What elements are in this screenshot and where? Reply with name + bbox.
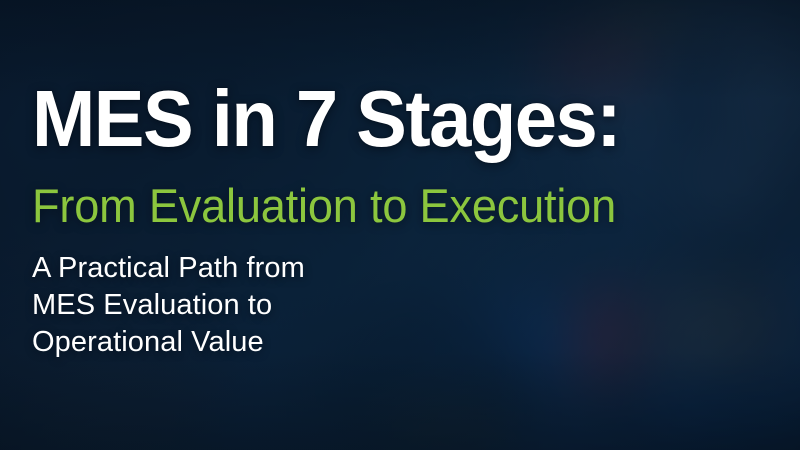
deck-line-1: A Practical Path from [32, 250, 305, 287]
slide-headline: MES in 7 Stages: [32, 79, 620, 159]
title-text-block: MES in 7 Stages: From Evaluation to Exec… [32, 0, 772, 450]
deck-line-3: Operational Value [32, 324, 305, 361]
title-slide: MES in 7 Stages: From Evaluation to Exec… [0, 0, 800, 450]
deck-line-2: MES Evaluation to [32, 287, 305, 324]
slide-deck-text: A Practical Path from MES Evaluation to … [32, 250, 305, 361]
slide-subheadline: From Evaluation to Execution [32, 182, 616, 229]
